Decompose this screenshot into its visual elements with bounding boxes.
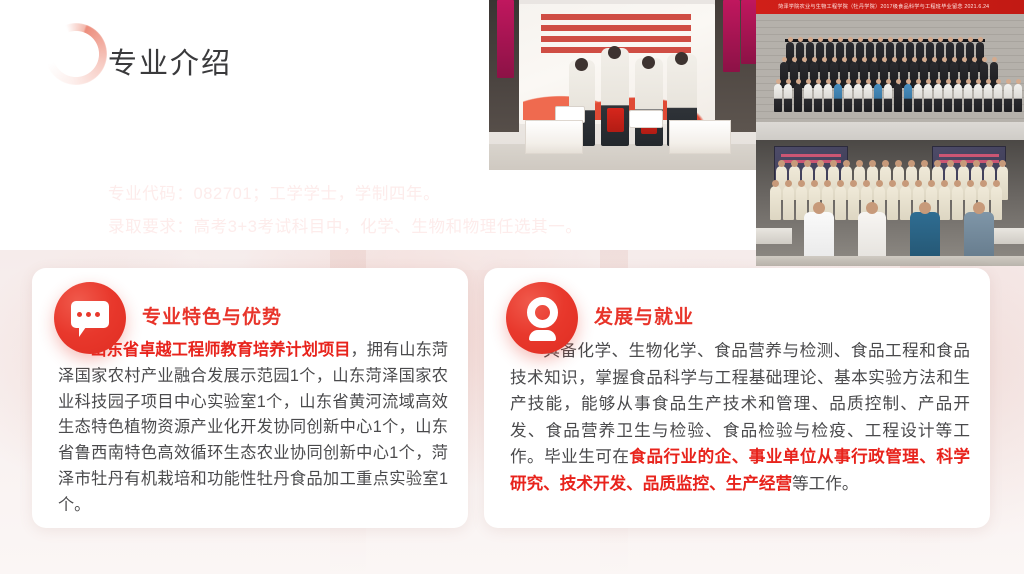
card-program-features: 专业特色与优势 山东省卓越工程师教育培养计划项目，拥有山东菏泽国家农村产业融合发…	[32, 268, 468, 528]
slide-root: 专业介绍 3、食品科学与工程 专业代码：082701；工学学士，学制四年。 录取…	[0, 0, 1024, 574]
classroom-group-photo	[756, 140, 1024, 266]
highlight-text: 山东省卓越工程师教育培养计划项目	[90, 341, 350, 359]
program-heading: 3、食品科学与工程	[108, 124, 383, 168]
medal-stamp-icon	[506, 282, 578, 354]
graduation-banner-text: 菏泽学院农业与生物工程学院（牡丹学院）2017级食品科学与工程班毕业留念 202…	[778, 3, 989, 10]
body-text-tail: 等工作。	[792, 474, 858, 493]
student-competition-award-photo	[489, 0, 756, 170]
body-text: ，拥有山东菏泽国家农村产业融合发展示范园1个，山东菏泽国家农业科技园子项目中心实…	[58, 341, 448, 514]
admission-requirement-line: 录取要求：高考3+3考试科目中，化学、生物和物理任选其一。	[108, 213, 582, 237]
graduation-group-photo: 菏泽学院农业与生物工程学院（牡丹学院）2017级食品科学与工程班毕业留念 202…	[756, 0, 1024, 140]
card-body-program-features: 山东省卓越工程师教育培养计划项目，拥有山东菏泽国家农村产业融合发展示范园1个，山…	[58, 338, 448, 519]
program-code-line: 专业代码：082701；工学学士，学制四年。	[108, 180, 440, 204]
partial-ring-decoration-icon	[45, 23, 107, 85]
card-development-employment: 发展与就业 具备化学、生物化学、食品营养与检测、食品工程和食品技术知识，掌握食品…	[484, 268, 990, 528]
card-body-development-employment: 具备化学、生物化学、食品营养与检测、食品工程和食品技术知识，掌握食品科学与工程基…	[510, 338, 970, 498]
card-title-program-features: 专业特色与优势	[142, 302, 282, 329]
page-title: 专业介绍	[108, 40, 232, 82]
speech-bubble-icon	[54, 282, 126, 354]
card-title-development-employment: 发展与就业	[594, 302, 694, 329]
